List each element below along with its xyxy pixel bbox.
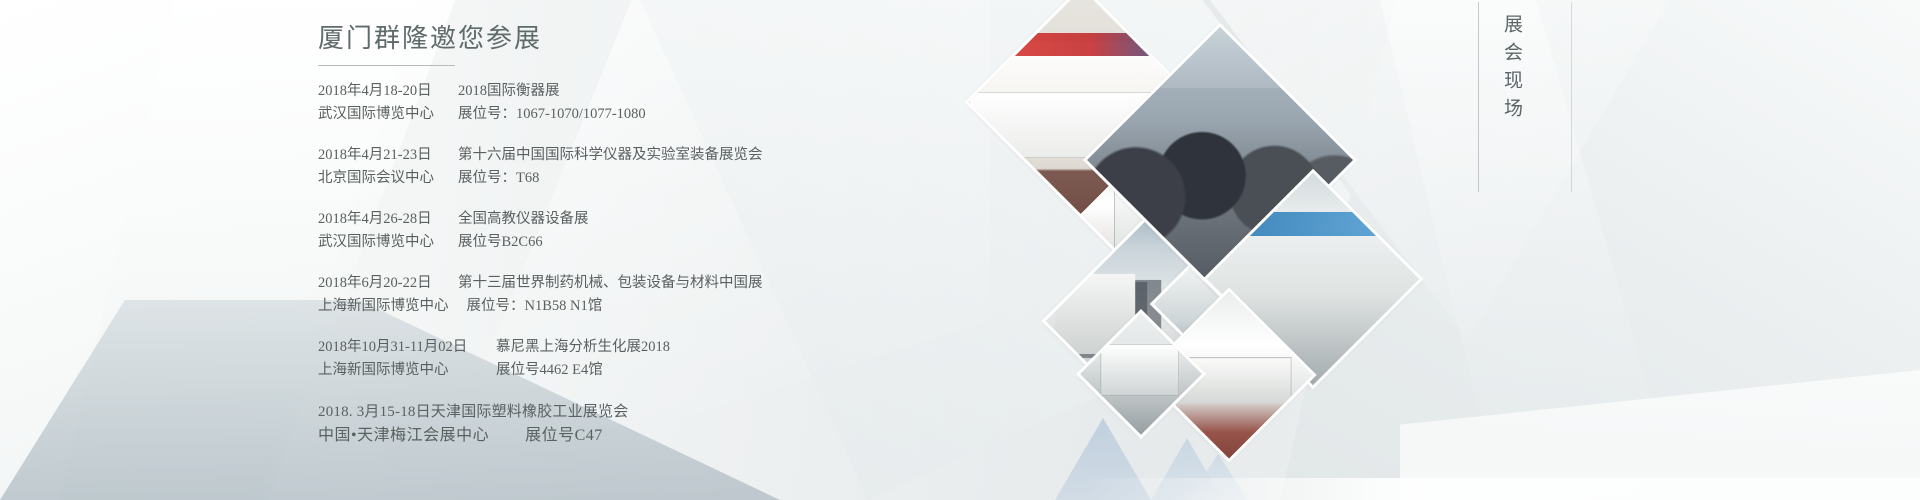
vertical-label-text: 展会现场 (1498, 14, 1525, 126)
event-item: 2018年4月18-20日 2018国际衡器展 武汉国际博览中心 展位号：106… (318, 80, 938, 127)
event-date: 2018年4月21-23日 (318, 144, 440, 167)
event-booth: 展位号C47 (489, 427, 603, 444)
event-date: 2018年10月31-11月02日 (318, 336, 478, 359)
event-item: 2018年4月21-23日 第十六届中国国际科学仪器及实验室装备展览会 北京国际… (318, 144, 938, 191)
event-row-primary: 2018年4月21-23日 第十六届中国国际科学仪器及实验室装备展览会 (318, 144, 938, 167)
event-row-secondary: 武汉国际博览中心 展位号：1067-1070/1077-1080 (318, 103, 938, 126)
page-title: 厦门群隆邀您参展 (318, 22, 938, 56)
event-row-primary: 2018年6月20-22日 第十三届世界制药机械、包装设备与材料中国展 (318, 272, 938, 295)
event-name: 2018国际衡器展 (440, 80, 560, 103)
event-venue: 中国•天津梅江会展中心 (318, 427, 489, 444)
event-row-secondary: 上海新国际博览中心 展位号：N1B58 N1馆 (318, 295, 938, 318)
event-venue: 上海新国际博览中心 (318, 295, 449, 318)
vertical-label-frame (1478, 2, 1572, 192)
event-row-primary: 2018年4月18-20日 2018国际衡器展 (318, 80, 938, 103)
event-title-line: 2018. 3月15-18日天津国际塑料橡胶工业展览会 (318, 400, 938, 421)
event-item: 2018. 3月15-18日天津国际塑料橡胶工业展览会 中国•天津梅江会展中心展… (318, 400, 938, 445)
event-name: 第十三届世界制药机械、包装设备与材料中国展 (440, 272, 763, 295)
event-venue: 上海新国际博览中心 (318, 359, 478, 382)
title-underline (318, 65, 455, 66)
event-booth: 展位号：T68 (440, 167, 539, 190)
event-row-primary: 2018年4月26-28日 全国高教仪器设备展 (318, 208, 938, 231)
event-item: 2018年4月26-28日 全国高教仪器设备展 武汉国际博览中心 展位号B2C6… (318, 208, 938, 255)
event-row-secondary: 武汉国际博览中心 展位号B2C66 (318, 231, 938, 254)
photo-collage (1020, 0, 1450, 500)
event-venue: 武汉国际博览中心 (318, 231, 440, 254)
event-venue: 北京国际会议中心 (318, 167, 440, 190)
event-item: 2018年6月20-22日 第十三届世界制药机械、包装设备与材料中国展 上海新国… (318, 272, 938, 319)
event-name: 第十六届中国国际科学仪器及实验室装备展览会 (440, 144, 763, 167)
event-booth: 展位号B2C66 (440, 231, 543, 254)
exhibition-banner: 展会现场 厦门群隆邀您参展 2018年4月18-20日 2018国际衡器展 武汉… (0, 0, 1920, 500)
event-row-secondary: 北京国际会议中心 展位号：T68 (318, 167, 938, 190)
event-item: 2018年10月31-11月02日 慕尼黑上海分析生化展2018 上海新国际博览… (318, 336, 938, 383)
event-date: 2018年6月20-22日 (318, 272, 440, 295)
event-booth: 展位号4462 E4馆 (478, 359, 603, 382)
bottom-light-band (1085, 478, 1920, 500)
event-row-primary: 2018年10月31-11月02日 慕尼黑上海分析生化展2018 (318, 336, 938, 359)
event-row-secondary: 上海新国际博览中心 展位号4462 E4馆 (318, 359, 938, 382)
event-venue: 武汉国际博览中心 (318, 103, 440, 126)
event-date: 2018年4月18-20日 (318, 80, 440, 103)
event-venue-line: 中国•天津梅江会展中心展位号C47 (318, 421, 938, 445)
event-schedule: 厦门群隆邀您参展 2018年4月18-20日 2018国际衡器展 武汉国际博览中… (318, 22, 938, 462)
event-date: 2018年4月26-28日 (318, 208, 440, 231)
event-booth: 展位号：N1B58 N1馆 (449, 295, 603, 318)
event-name: 全国高教仪器设备展 (440, 208, 589, 231)
event-name: 慕尼黑上海分析生化展2018 (478, 336, 670, 359)
event-booth: 展位号：1067-1070/1077-1080 (440, 103, 646, 126)
